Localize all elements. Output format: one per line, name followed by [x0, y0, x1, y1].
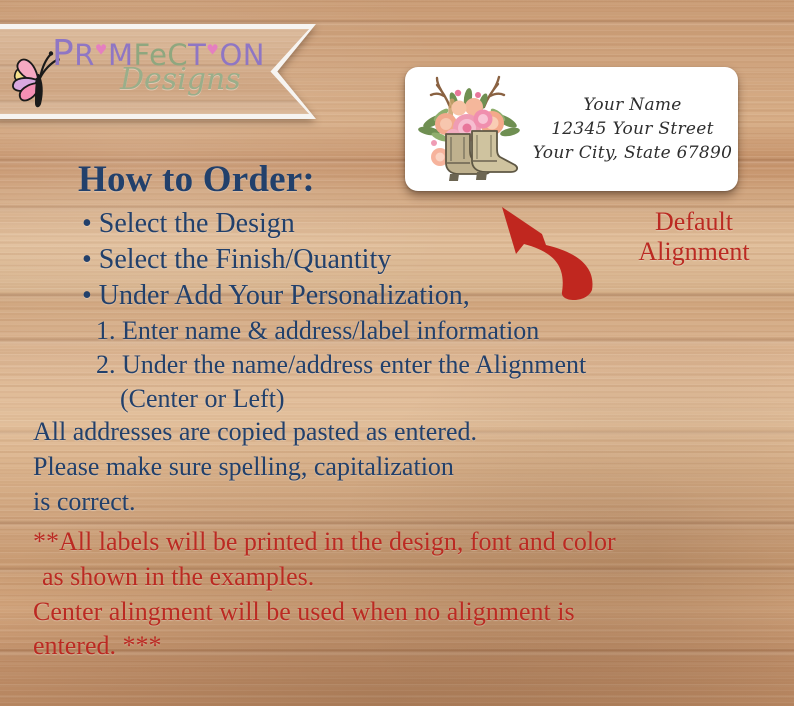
instruction-warning: as shown in the examples.	[42, 560, 794, 595]
instruction-step: 2. Under the name/address enter the Alig…	[96, 348, 794, 382]
instruction-bullet: • Under Add Your Personalization,	[82, 278, 794, 314]
heart-icon: ♥	[206, 42, 219, 58]
instruction-note: is correct.	[33, 485, 794, 520]
brand-tagline: Designs	[120, 62, 241, 97]
instruction-warning: entered. ***	[33, 629, 794, 664]
instructions-block: How to Order: • Select the Design • Sele…	[0, 158, 794, 664]
heart-icon: ♥	[95, 42, 108, 58]
instruction-bullet: • Select the Design	[82, 206, 794, 242]
address-line-name: Your Name	[583, 93, 681, 117]
instruction-step: 1. Enter name & address/label informatio…	[96, 314, 794, 348]
brand-wordmark: PR♥MFeCT♥ON Designs	[52, 36, 302, 112]
instruction-warning: **All labels will be printed in the desi…	[33, 525, 794, 560]
address-line-street: 12345 Your Street	[551, 117, 714, 141]
instruction-note: All addresses are copied pasted as enter…	[33, 415, 794, 450]
instruction-note: Please make sure spelling, capitalizatio…	[33, 450, 794, 485]
instruction-bullet: • Select the Finish/Quantity	[82, 242, 794, 278]
instruction-warning: Center alingment will be used when no al…	[33, 595, 794, 630]
brand-banner: PR♥MFeCT♥ON Designs	[0, 24, 316, 119]
page-title: How to Order:	[78, 158, 794, 202]
instruction-substep: (Center or Left)	[120, 382, 794, 416]
